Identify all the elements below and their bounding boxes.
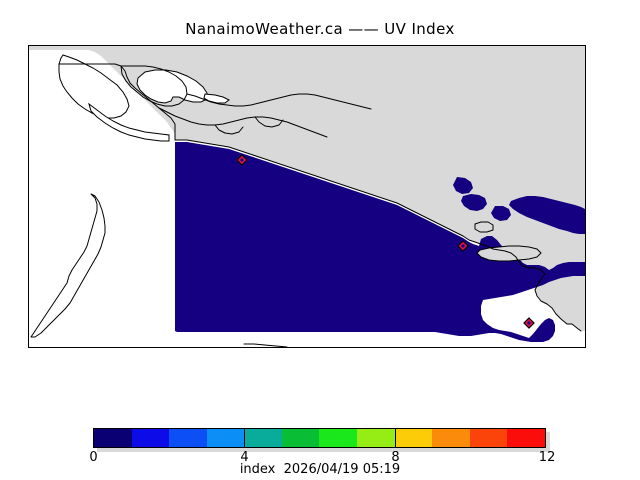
colorbar-segment-3 [207,429,245,447]
colorbar-segment-11 [507,429,545,447]
colorbar-caption: index 2026/04/19 05:19 [0,462,640,477]
colorbar-gradient [93,428,546,448]
colorbar-tick-8 [395,428,396,448]
colorbar-segment-5 [282,429,320,447]
colorbar-segment-6 [319,429,357,447]
colorbar-segment-0 [94,429,132,447]
colorbar-segment-2 [169,429,207,447]
island-west-narrow [31,194,105,337]
station-marker-3 [524,318,534,328]
colorbar-segment-7 [357,429,395,447]
colorbar-tick-4 [244,428,245,448]
island-south-long [244,344,287,347]
colorbar: 04812 [93,428,546,448]
colorbar-segment-9 [432,429,470,447]
colorbar-segment-10 [470,429,508,447]
page-title: NanaimoWeather.ca —— UV Index [0,20,640,38]
map-canvas [29,46,585,347]
colorbar-segment-1 [132,429,170,447]
colorbar-segment-8 [395,429,433,447]
colorbar-segment-4 [244,429,282,447]
map-plot-frame [28,45,586,348]
